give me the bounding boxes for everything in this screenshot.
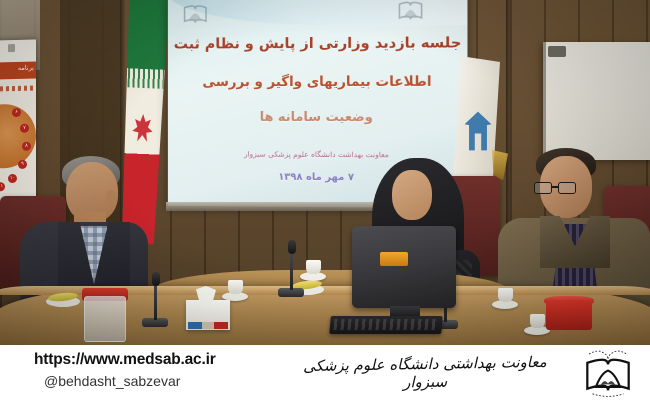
footer-contact: https://www.medsab.ac.ir @behdasht_sabze… — [34, 351, 216, 389]
slide-title-line-3: وضعیت سامانه ها — [168, 110, 468, 125]
open-book-university-logo-icon — [582, 349, 634, 399]
poster-top — [0, 40, 36, 63]
microphone-head — [288, 240, 296, 254]
red-container — [546, 300, 592, 330]
microphone-stem — [154, 282, 157, 320]
flag-kufi-band — [122, 179, 159, 201]
teacup — [530, 314, 545, 328]
whiteboard — [543, 42, 650, 160]
footer-bar: https://www.medsab.ac.ir @behdasht_sabze… — [0, 345, 650, 404]
social-handle[interactable]: @behdasht_sabzevar — [44, 373, 216, 389]
footer-organization: معاونت بهداشتی دانشگاه علوم پزشکی سبزوار — [290, 353, 561, 394]
slide-title-line-2: اطلاعات بیماریهای واگیر و بررسی — [168, 74, 468, 90]
poster-number-dot: ۹ — [18, 160, 27, 169]
open-book-logo-icon — [182, 1, 209, 27]
monitor-sticker — [380, 252, 408, 266]
flag-emblem-icon — [131, 113, 154, 144]
whiteboard-clip — [548, 46, 566, 57]
poster-number-dot: ۱۱ — [0, 182, 5, 191]
slide-title-line-1: جلسه بازدید وزارتی از پایش و نظام ثبت — [168, 35, 468, 52]
poster-logo-icon — [8, 44, 15, 52]
keyboard-keys — [334, 319, 439, 330]
website-url[interactable]: https://www.medsab.ac.ir — [34, 351, 216, 369]
poster-header-band: برنامه — [0, 62, 36, 80]
teacup — [228, 280, 243, 294]
microphone-head — [152, 272, 160, 286]
water-pitcher — [84, 296, 126, 342]
screenshot-root: برنامه ۶ ۷ ۸ ۹ ۱۰ ۱۱ — [0, 0, 650, 404]
wall-poster: برنامه ۶ ۷ ۸ ۹ ۱۰ ۱۱ — [0, 40, 36, 221]
face — [392, 170, 432, 220]
meeting-photo: برنامه ۶ ۷ ۸ ۹ ۱۰ ۱۱ — [0, 0, 650, 345]
open-book-logo-icon — [396, 0, 424, 24]
poster-divider — [0, 86, 36, 92]
desktop-monitor — [352, 226, 456, 308]
tissue-box-label — [188, 322, 228, 329]
eyeglasses-icon — [534, 182, 578, 194]
ear — [106, 190, 117, 205]
poster-header-text: برنامه — [18, 64, 34, 72]
teacup — [306, 260, 321, 274]
flag-kufi-band — [127, 67, 164, 89]
microphone-stem — [290, 250, 293, 290]
teacup — [498, 288, 513, 302]
poster-number-dot: ۱۰ — [8, 174, 17, 183]
